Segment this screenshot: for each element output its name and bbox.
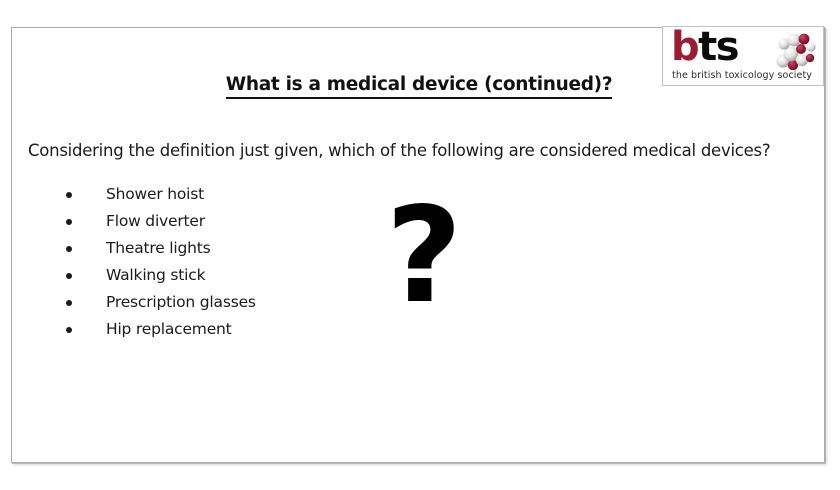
logo-wordmark-ts: ts	[698, 26, 738, 70]
slide-canvas: bts	[0, 0, 840, 490]
list-item-label: Theatre lights	[106, 239, 211, 257]
bullet-dot-icon	[66, 192, 72, 198]
slide-prompt: Considering the definition just given, w…	[28, 141, 818, 160]
logo-wordmark: bts	[671, 26, 738, 69]
logo-wordmark-b: b	[671, 26, 698, 70]
slide-frame: bts	[11, 27, 825, 463]
bullet-dot-icon	[66, 246, 72, 252]
slide-title-text: What is a medical device (continued)?	[226, 74, 613, 99]
list-item-label: Hip replacement	[106, 320, 232, 338]
bullet-dot-icon	[66, 219, 72, 225]
bullet-dot-icon	[66, 300, 72, 306]
slide-title: What is a medical device (continued)?	[12, 74, 826, 95]
list-item-label: Walking stick	[106, 266, 205, 284]
question-mark-icon: ?	[379, 191, 469, 321]
list-item-label: Flow diverter	[106, 212, 205, 230]
bullet-dot-icon	[66, 273, 72, 279]
molecule-icon	[771, 30, 817, 70]
bullet-dot-icon	[66, 327, 72, 333]
list-item-label: Shower hoist	[106, 185, 204, 203]
list-item-label: Prescription glasses	[106, 293, 256, 311]
